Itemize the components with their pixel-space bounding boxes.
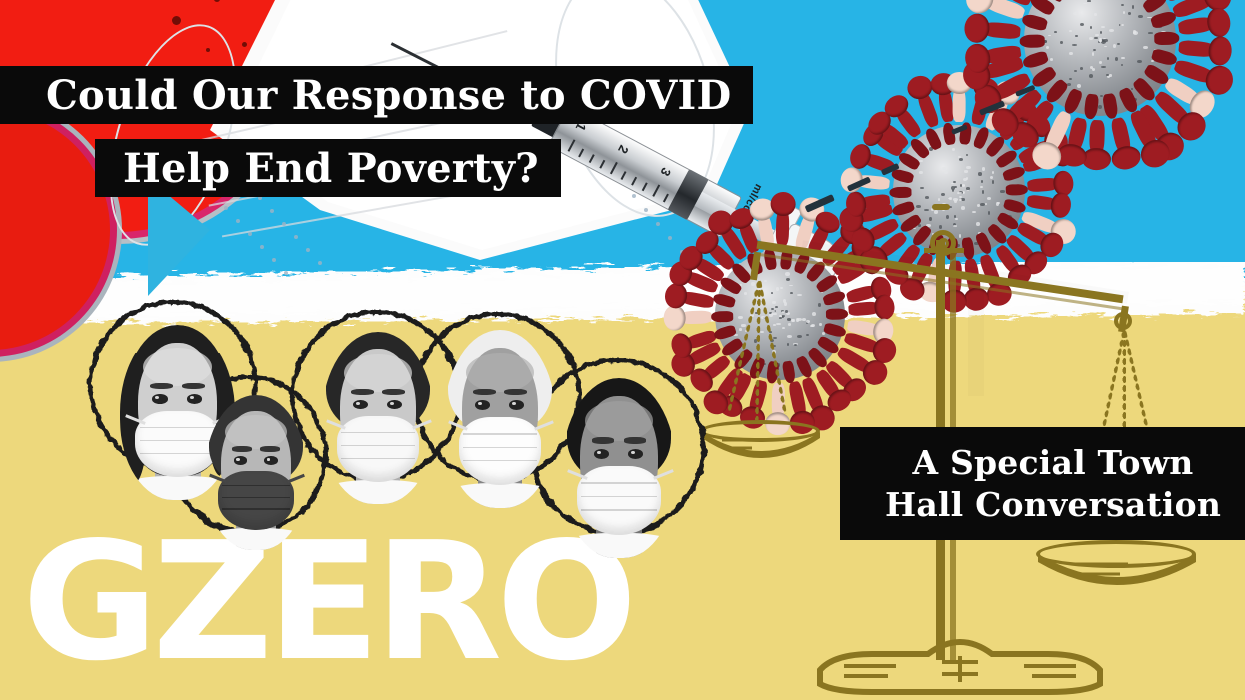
virus-spike: [1027, 194, 1061, 211]
face-woman-short-hair: [322, 332, 434, 504]
mask-pleat-line: [140, 440, 216, 442]
eye-highlight: [512, 402, 516, 405]
virus-spike: [1179, 40, 1219, 59]
title-line-1-bar: Could Our Response to COVID: [0, 66, 753, 124]
white-surgical-mask: [577, 466, 661, 534]
white-surgical-mask: [337, 416, 420, 481]
mask-pleat-line: [222, 497, 289, 499]
eye-highlight: [267, 458, 271, 461]
eyebrow: [150, 383, 173, 389]
mask-pleat-line: [222, 485, 289, 487]
eyebrow: [260, 446, 280, 451]
virus-spike: [848, 301, 883, 317]
subtitle-bar: A Special Town Hall Conversation: [840, 427, 1245, 540]
eyebrow: [182, 383, 205, 389]
mask-pleat-line: [581, 482, 656, 484]
virus-spike: [1089, 120, 1105, 158]
shirt: [205, 528, 307, 550]
mask-pleat-line: [463, 433, 537, 435]
virus-spike: [1084, 93, 1100, 120]
eye-highlight: [190, 396, 194, 399]
subtitle-line-1-text: A Special Town: [912, 442, 1193, 484]
mask-pleat-line: [341, 432, 415, 434]
eye: [264, 456, 278, 465]
title-line-1-text: Could Our Response to COVID: [46, 72, 731, 119]
virus-spike: [1027, 177, 1062, 193]
eye-highlight: [597, 451, 601, 454]
eye-highlight: [236, 458, 240, 461]
forehead-shading: [585, 401, 653, 441]
gzero-wordmark: GZERO: [22, 528, 631, 678]
mask-pleat-line: [341, 445, 415, 447]
virus-spike: [1020, 35, 1045, 49]
eye: [187, 394, 203, 404]
eye-highlight: [390, 402, 394, 405]
eye-highlight: [356, 402, 360, 405]
face-elderly-man-headwrap: [444, 330, 556, 508]
virus-spike: [676, 290, 714, 309]
virus-spike: [1006, 184, 1028, 196]
virus-spike: [827, 308, 849, 320]
eyebrow: [504, 389, 526, 395]
poster-canvas: 1 2 3 ml/cc: [0, 0, 1245, 700]
title-line-2-text: Help End Poverty?: [123, 145, 539, 192]
eyebrow: [351, 389, 373, 395]
cyan-wedge-accent: [148, 178, 238, 308]
eye-highlight: [631, 451, 635, 454]
virus-spike: [953, 85, 966, 122]
face-boy: [205, 395, 307, 550]
eyebrow: [624, 437, 647, 443]
shirt: [322, 480, 434, 504]
face-young-man: [562, 378, 676, 558]
eyebrow: [382, 389, 404, 395]
mask-pleat-line: [463, 460, 537, 462]
mask-pleat-line: [463, 447, 537, 449]
forehead-shading: [344, 354, 411, 392]
shirt: [562, 533, 676, 558]
mask-pleat-line: [341, 458, 415, 460]
virus-spike: [1154, 32, 1179, 46]
eye-highlight: [155, 396, 159, 399]
dark-cloth-mask: [218, 471, 293, 530]
subtitle-line-2-text: Hall Conversation: [885, 484, 1221, 526]
title-line-2-bar: Help End Poverty?: [95, 139, 561, 197]
virus-spike: [676, 311, 712, 325]
white-surgical-mask: [459, 417, 542, 485]
mask-pleat-line: [140, 453, 216, 455]
forehead-shading: [466, 353, 533, 392]
virus-spike: [1110, 116, 1133, 157]
shirt: [444, 483, 556, 508]
eyebrow: [232, 446, 252, 451]
forehead-shading: [225, 415, 286, 449]
mask-pleat-line: [222, 508, 289, 510]
mask-pleat-line: [140, 427, 216, 429]
eyebrow: [592, 437, 615, 443]
virus-spike: [711, 310, 733, 322]
mask-pleat-line: [581, 509, 656, 511]
mask-pleat-line: [581, 496, 656, 498]
virus-spike: [1178, 15, 1218, 35]
eyebrow: [473, 389, 495, 395]
virus-spike: [775, 206, 789, 246]
forehead-shading: [143, 348, 212, 387]
virus-spike: [890, 186, 912, 198]
virus-spike: [979, 21, 1021, 40]
